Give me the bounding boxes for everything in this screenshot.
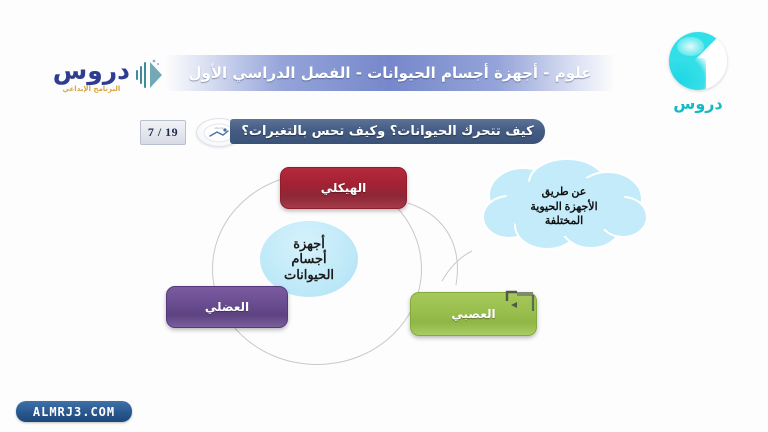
page-counter-value: 19 / 7 (148, 125, 178, 140)
subheader-bar: كيف تتحرك الحيوانات؟ وكيف تحس بالتغيرات؟ (230, 119, 545, 144)
diagram-node-skeletal[interactable]: الهيكلي (280, 167, 407, 209)
diagram-node-muscular[interactable]: العضلي (166, 286, 288, 328)
slide-canvas: دروس البرنامج الإبداعي دروس علوم - أجهزة… (0, 0, 768, 432)
cloud-line-2: الأجهزة الحيوية (530, 200, 597, 215)
concept-diagram: عن طريق الأجهزة الحيوية المختلفة أجهزة أ… (150, 155, 630, 380)
brand-left-subtitle: البرنامج الإبداعي (62, 86, 120, 93)
diagram-node-muscular-label: العضلي (205, 300, 249, 314)
selection-handle-icon[interactable] (505, 289, 543, 315)
center-line-2: أجسام (291, 251, 326, 266)
sound-wave-icon (134, 58, 164, 92)
page-counter: 19 / 7 (140, 120, 186, 145)
subheader-question: كيف تتحرك الحيوانات؟ وكيف تحس بالتغيرات؟ (241, 124, 533, 139)
cloud-text: عن طريق الأجهزة الحيوية المختلفة (530, 185, 597, 230)
brand-left: دروس البرنامج الإبداعي (34, 48, 164, 102)
page-title: علوم - أجهزة أجسام الحيوانات - الفصل الد… (189, 64, 592, 82)
watermark-text: ALMRJ3.COM (33, 405, 115, 419)
watermark-badge: ALMRJ3.COM (16, 401, 132, 422)
svg-text:stamp: stamp (214, 126, 224, 130)
brand-right-name: دروس (673, 94, 722, 113)
brand-right: دروس (650, 32, 746, 122)
diagram-node-skeletal-label: الهيكلي (321, 181, 366, 195)
center-line-3: الحيوانات (284, 267, 334, 282)
center-line-1: أجهزة (293, 236, 325, 251)
diagram-cloud: عن طريق الأجهزة الحيوية المختلفة (475, 159, 653, 255)
page-title-bar: علوم - أجهزة أجسام الحيوانات - الفصل الد… (165, 55, 615, 91)
cloud-line-3: المختلفة (530, 214, 597, 229)
diagram-node-nervous-label: العصبي (451, 307, 495, 321)
brand-left-name: دروس (53, 58, 130, 83)
subheader: 19 / 7 stamp كيف تتحرك الحيوانات؟ وكيف ت… (140, 119, 545, 144)
sphere-logo-icon (669, 32, 727, 90)
cloud-line-1: عن طريق (530, 185, 597, 200)
